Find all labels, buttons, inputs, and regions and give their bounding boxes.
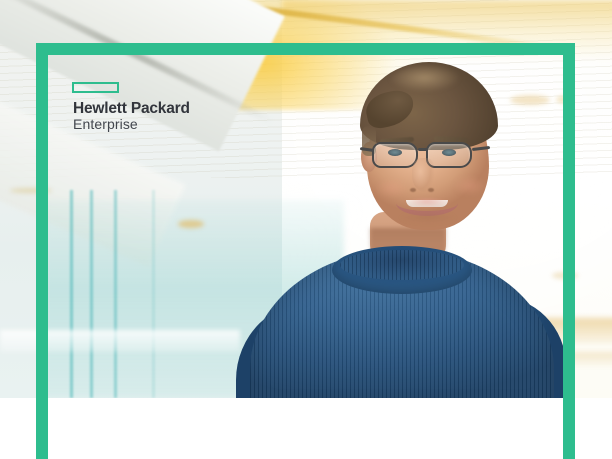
hpe-rectangle-mark-icon bbox=[72, 82, 119, 93]
glasses-bridge bbox=[418, 148, 428, 151]
person-chin-shadow bbox=[392, 214, 464, 230]
glasses-lens-left bbox=[372, 142, 418, 168]
hpe-logo: Hewlett Packard Enterprise bbox=[72, 82, 232, 132]
card-frame-top bbox=[36, 43, 575, 55]
hero-photo: Hewlett Packard Enterprise bbox=[0, 0, 612, 398]
person-nose bbox=[412, 158, 436, 192]
person-collar-ribbing bbox=[340, 250, 464, 280]
card-frame-right bbox=[563, 43, 575, 459]
card-body: HPE Solutions Series bbox=[0, 398, 612, 459]
hpe-solutions-card: Hewlett Packard Enterprise HPE Solutions… bbox=[0, 0, 612, 459]
hpe-logo-line2: Enterprise bbox=[73, 116, 138, 132]
glasses-temple-right bbox=[472, 146, 490, 151]
person-lips bbox=[402, 198, 452, 210]
photo-person bbox=[0, 0, 612, 398]
card-frame-left bbox=[36, 43, 48, 459]
